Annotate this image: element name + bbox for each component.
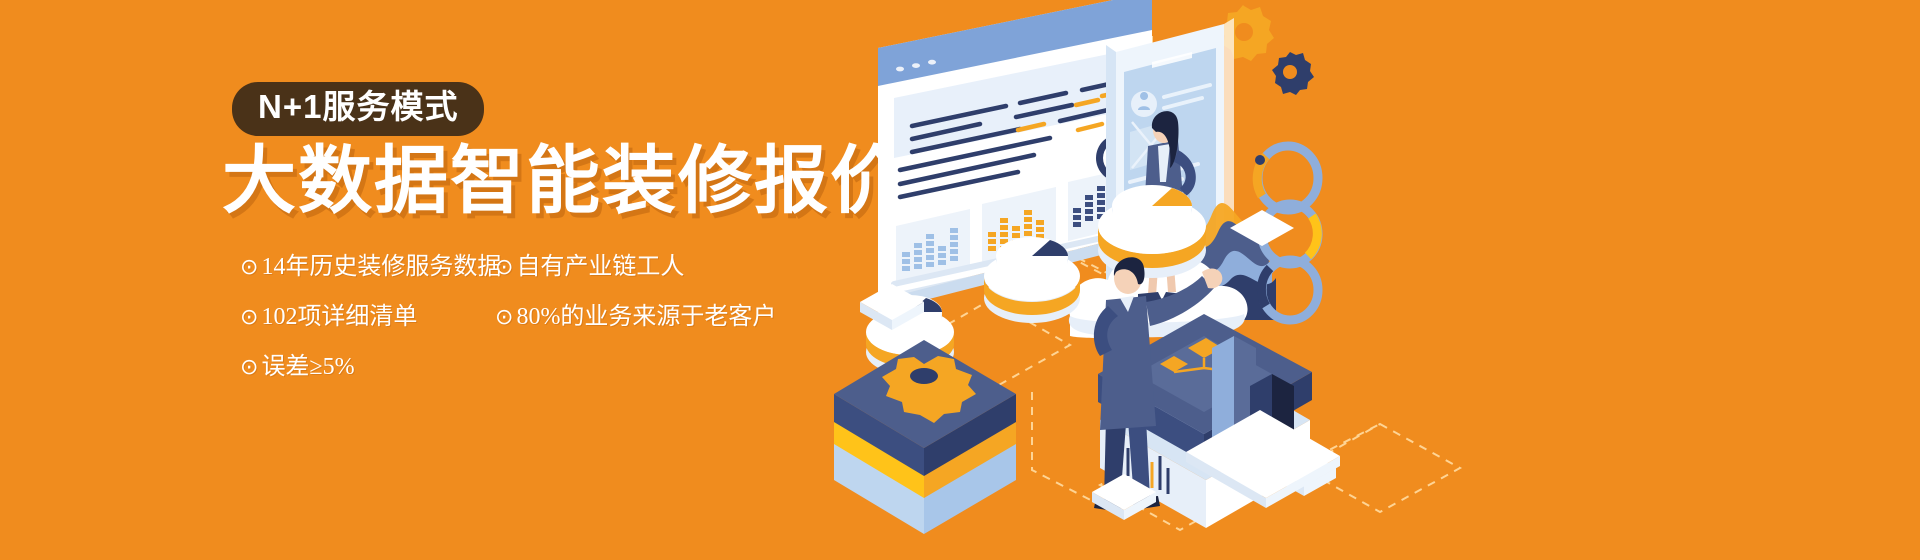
list-item: ⊙ 误差≥5% <box>240 355 501 379</box>
page-title: 大数据智能装修报价 <box>222 140 906 223</box>
bullet-dot-icon: ⊙ <box>495 307 513 329</box>
list-item: ⊙ 14年历史装修服务数据 <box>240 255 501 279</box>
bullet-dot-icon: ⊙ <box>495 257 513 279</box>
bullet-dot-icon: ⊙ <box>240 257 258 279</box>
bullet-column-left: ⊙ 14年历史装修服务数据 ⊙ 102项详细清单 ⊙ 误差≥5% <box>240 255 501 405</box>
list-item: ⊙ 102项详细清单 <box>240 305 501 329</box>
gear-small <box>1272 52 1314 95</box>
service-model-badge: N+1服务模式 <box>232 82 484 136</box>
list-item-label: 80%的业务来源于老客户 <box>516 305 776 329</box>
bullet-dot-icon: ⊙ <box>240 307 258 329</box>
banner-root: N+1服务模式 大数据智能装修报价 ⊙ 14年历史装修服务数据 ⊙ 102项详细… <box>0 0 1920 560</box>
isometric-big-data-illustration <box>820 0 1920 560</box>
bullet-dot-icon: ⊙ <box>240 357 258 379</box>
list-item-label: 自有产业链工人 <box>516 255 684 279</box>
list-item-label: 误差≥5% <box>261 355 354 379</box>
list-item: ⊙ 80%的业务来源于老客户 <box>495 305 776 329</box>
list-item-label: 14年历史装修服务数据 <box>261 255 501 279</box>
gear-cylinder <box>834 340 1016 534</box>
list-item-label: 102项详细清单 <box>261 305 417 329</box>
bullet-column-right: ⊙ 自有产业链工人 ⊙ 80%的业务来源于老客户 <box>495 255 776 355</box>
list-item: ⊙ 自有产业链工人 <box>495 255 776 279</box>
